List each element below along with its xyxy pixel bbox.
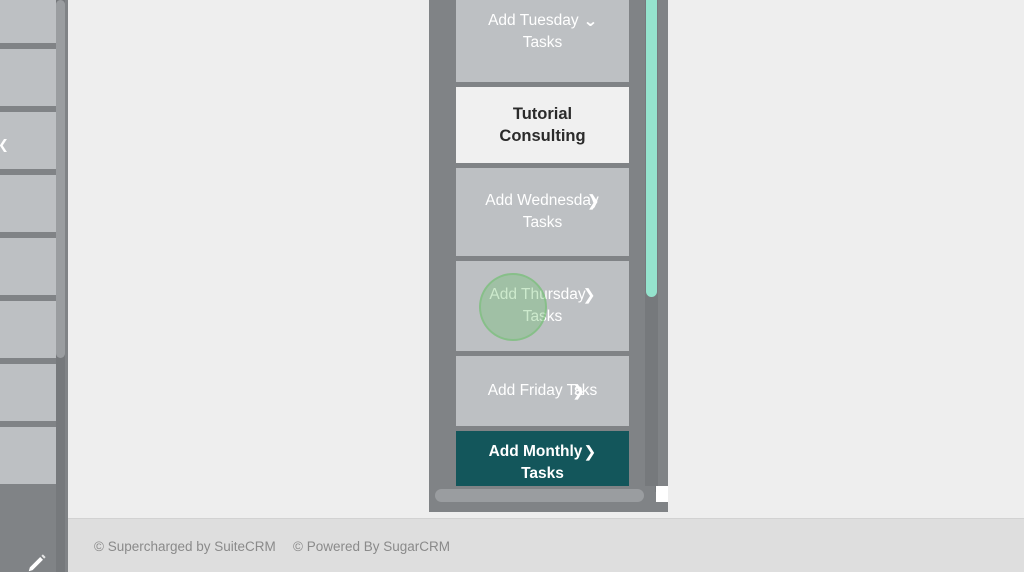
sidebar-scrollbar-thumb[interactable]: [56, 0, 65, 358]
task-menu-list: Add Tuesday ⌄ Tasks Tutorial Consulting …: [429, 0, 649, 495]
menu-item-label: Add Wednesday❯ Tasks: [468, 190, 617, 234]
chevron-right-icon: ❯: [583, 441, 596, 463]
chevron-right-icon: ❯: [587, 190, 600, 212]
menu-item-label: Tutorial Consulting: [468, 103, 617, 147]
scrollbar-corner: [656, 486, 668, 502]
menu-item-tutorial-consulting[interactable]: Tutorial Consulting: [456, 87, 629, 163]
footer: © Supercharged by SuiteCRM © Powered By …: [68, 518, 1024, 572]
menu-item-label: Add Tuesday ⌄ Tasks: [468, 10, 617, 54]
footer-suitecrm-credit: © Supercharged by SuiteCRM: [94, 539, 276, 554]
panel-scrollbar-thumb[interactable]: [646, 0, 657, 297]
chevron-down-icon: ⌄: [583, 10, 598, 32]
menu-item-add-wednesday-tasks[interactable]: Add Wednesday❯ Tasks: [456, 168, 629, 256]
panel-horizontal-scrollbar-thumb[interactable]: [435, 489, 644, 502]
chevron-right-icon: ❯: [583, 284, 596, 306]
sidebar-nav-tile[interactable]: [0, 364, 56, 424]
menu-item-add-tuesday-tasks[interactable]: Add Tuesday ⌄ Tasks: [456, 0, 629, 82]
sidebar-nav-tile[interactable]: [0, 238, 56, 298]
footer-sugarcrm-credit: © Powered By SugarCRM: [293, 539, 450, 554]
sidebar-nav-tile[interactable]: [0, 301, 56, 361]
menu-item-label: Add Monthly❯ Tasks: [468, 441, 617, 485]
main-content-area: Add Tuesday ⌄ Tasks Tutorial Consulting …: [68, 0, 1024, 518]
sidebar-nav-tile[interactable]: [0, 49, 56, 109]
app-screen: ❮ Add Tuesday ⌄ Tasks Tutorial Consultin…: [0, 0, 1024, 572]
sidebar-nav-tile[interactable]: [0, 0, 56, 46]
sidebar-nav-tile[interactable]: [0, 175, 56, 235]
menu-item-add-thursday-tasks[interactable]: Add Thursday❯ Tasks: [456, 261, 629, 351]
menu-item-add-friday-tasks[interactable]: Add Friday Ta❯sks: [456, 356, 629, 426]
task-menu-panel: Add Tuesday ⌄ Tasks Tutorial Consulting …: [429, 0, 668, 512]
sidebar-nav-tile[interactable]: [0, 427, 56, 487]
left-sidebar: ❮: [0, 0, 68, 572]
chevron-left-icon[interactable]: ❮: [0, 138, 10, 154]
menu-item-label: Add Thursday❯ Tasks: [468, 284, 617, 328]
menu-item-label: Add Friday Ta❯sks: [488, 380, 598, 402]
pencil-icon[interactable]: [26, 552, 48, 572]
